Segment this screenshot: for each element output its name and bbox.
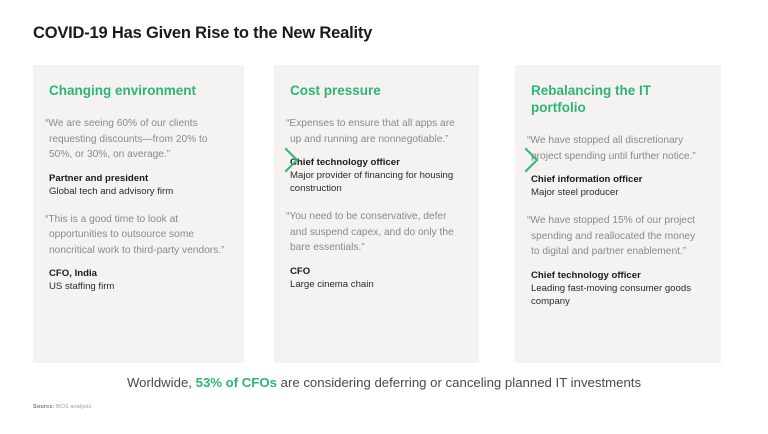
column-panel-changing-environment: Changing environment “We are seeing 60% …	[33, 65, 244, 363]
source-label: Source:	[33, 404, 55, 410]
attribution-org: Major provider of financing for housing …	[290, 169, 463, 195]
quote-text: “Expenses to ensure that all apps are up…	[290, 116, 463, 147]
quote-text: “We have stopped all discretionary proje…	[531, 133, 705, 164]
quote-block: “This is a good time to look at opportun…	[49, 212, 228, 294]
block-spacer	[531, 199, 705, 213]
column-panel-cost-pressure: Cost pressure “Expenses to ensure that a…	[274, 65, 479, 363]
chevron-right-icon	[281, 145, 303, 175]
quote-text: “You need to be conservative, defer and …	[290, 209, 463, 256]
columns-container: Changing environment “We are seeing 60% …	[33, 65, 721, 363]
attribution-org: Global tech and advisory firm	[49, 185, 228, 198]
footer-statistic: Worldwide, 53% of CFOs are considering d…	[0, 375, 768, 390]
footer-stat-prefix: Worldwide,	[127, 375, 196, 390]
attribution-org: Major steel producer	[531, 186, 705, 199]
chevron-right-icon	[521, 145, 543, 175]
block-spacer	[290, 195, 463, 209]
quote-block: “Expenses to ensure that all apps are up…	[290, 116, 463, 195]
footer-stat-highlight: 53% of CFOs	[196, 375, 277, 390]
page-title: COVID-19 Has Given Rise to the New Reali…	[33, 24, 372, 43]
quote-text: “This is a good time to look at opportun…	[49, 212, 228, 259]
quote-text: “We are seeing 60% of our clients reques…	[49, 116, 228, 163]
attribution-org: Large cinema chain	[290, 278, 463, 291]
attribution-role: Chief information officer	[531, 173, 705, 186]
column-heading: Cost pressure	[290, 82, 463, 99]
attribution-role: CFO	[290, 265, 463, 278]
footer-stat-suffix: are considering deferring or canceling p…	[277, 375, 641, 390]
column-heading: Changing environment	[49, 82, 228, 99]
quote-block: “You need to be conservative, defer and …	[290, 209, 463, 291]
block-spacer	[49, 198, 228, 212]
slide-canvas: COVID-19 Has Given Rise to the New Reali…	[0, 0, 768, 434]
attribution-org: Leading fast-moving consumer goods compa…	[531, 282, 705, 308]
quote-block: “We have stopped all discretionary proje…	[531, 133, 705, 199]
source-note: Source: BCG analysis.	[33, 404, 93, 410]
attribution-role: Chief technology officer	[290, 156, 463, 169]
attribution-org: US staffing firm	[49, 280, 228, 293]
quote-block: “We have stopped 15% of our project spen…	[531, 213, 705, 308]
source-text: BCG analysis.	[55, 404, 93, 410]
attribution-role: Partner and president	[49, 172, 228, 185]
attribution-role: CFO, India	[49, 267, 228, 280]
column-heading: Rebalancing the IT portfolio	[531, 82, 705, 116]
attribution-role: Chief technology officer	[531, 269, 705, 282]
quote-block: “We are seeing 60% of our clients reques…	[49, 116, 228, 198]
quote-text: “We have stopped 15% of our project spen…	[531, 213, 705, 260]
column-panel-rebalancing-it-portfolio: Rebalancing the IT portfolio “We have st…	[515, 65, 721, 363]
